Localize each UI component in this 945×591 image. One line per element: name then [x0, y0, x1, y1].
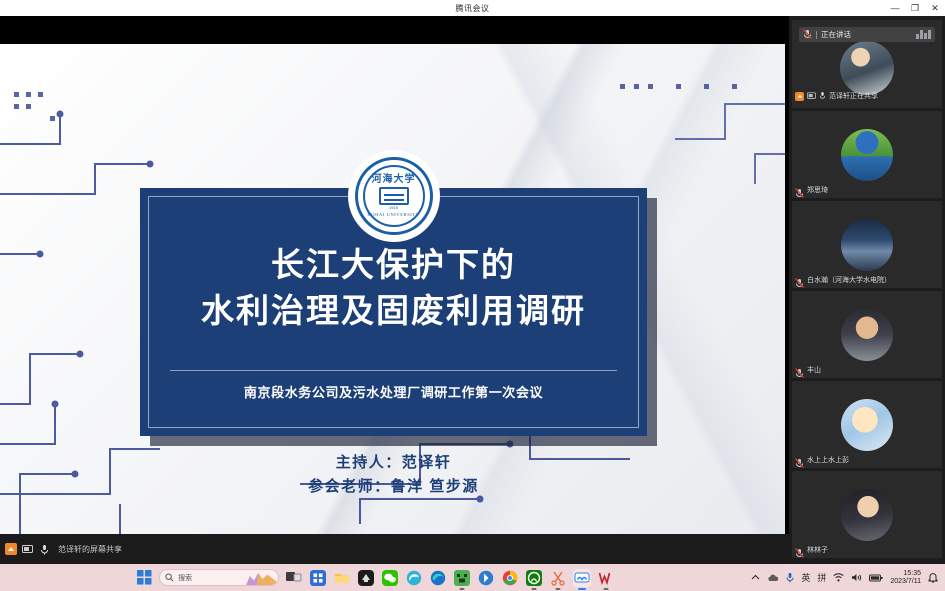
logo-emblem-icon — [379, 187, 409, 205]
quark-browser-icon[interactable] — [477, 569, 495, 587]
show-hidden-icons-chevron[interactable] — [751, 574, 760, 581]
ime-pinyin-icon[interactable]: 拼 — [817, 571, 826, 584]
speaking-indicator: 正在讲话 — [799, 27, 935, 42]
share-status-bar: 范译轩的屏幕共享 — [0, 534, 789, 564]
clock-date: 2023/7/11 — [890, 578, 921, 586]
battery-icon[interactable] — [869, 574, 883, 582]
share-top-letterbox — [0, 16, 789, 44]
dark-app-icon[interactable] — [357, 569, 375, 587]
logo-chinese-name: 河海大学 — [372, 175, 416, 185]
search-input[interactable]: 搜索 — [159, 569, 279, 586]
circuit-decoration-left — [0, 104, 160, 534]
slide-title: 长江大保护下的 水利治理及固废利用调研 — [140, 242, 647, 333]
google-chrome-icon[interactable] — [501, 569, 519, 587]
tencent-meeting-window: 腾讯会议 — ❐ ✕ — [0, 0, 945, 591]
ime-language-icon[interactable]: 英 — [801, 571, 810, 584]
participant-label: 范译轩正在共享 — [795, 87, 878, 105]
participant-tile[interactable]: 丰山 — [792, 291, 942, 378]
mic-muted-icon — [795, 455, 804, 465]
avatar — [841, 399, 893, 451]
participant-name: 林林子 — [807, 545, 828, 555]
edge-legacy-icon[interactable] — [405, 569, 423, 587]
participant-name: 丰山 — [807, 365, 821, 375]
windows-start-icon[interactable] — [136, 569, 153, 586]
wifi-icon[interactable] — [833, 573, 844, 582]
microsoft-store-icon[interactable] — [309, 569, 327, 587]
avatar — [841, 129, 893, 181]
mic-muted-icon — [795, 365, 804, 375]
share-owner-label: 范译轩的屏幕共享 — [58, 544, 122, 555]
participant-label: 丰山 — [795, 365, 821, 375]
slide-subtitle: 南京段水务公司及污水处理厂调研工作第一次会议 — [140, 382, 647, 401]
shared-screen-stage: 河海大学 1915 HOHAI UNIVERSITY 长江大保护下的 水利治理及… — [0, 16, 789, 564]
microphone-icon[interactable] — [38, 543, 51, 556]
participant-tile[interactable]: 白水瀚（河海大学水电院） — [792, 201, 942, 288]
windows-taskbar: 搜索 — [0, 564, 945, 591]
logo-outer-ring: 河海大学 1915 HOHAI UNIVERSITY — [355, 157, 433, 235]
system-tray: 英 拼 15:35 2023/7/11 — [751, 570, 945, 585]
maximize-button[interactable]: ❐ — [905, 0, 925, 16]
slide-title-line2: 水利治理及固废利用调研 — [140, 288, 647, 334]
hohai-university-logo: 河海大学 1915 HOHAI UNIVERSITY — [348, 150, 440, 242]
participant-label: 水上上水上彭 — [795, 455, 849, 465]
participant-name: 郑思琦 — [807, 185, 828, 195]
slide-title-card: 河海大学 1915 HOHAI UNIVERSITY 长江大保护下的 水利治理及… — [140, 188, 647, 436]
slide-host-line: 主持人：范译轩 — [140, 451, 647, 472]
window-title: 腾讯会议 — [456, 3, 490, 14]
participant-name: 水上上水上彭 — [807, 455, 849, 465]
tencent-meeting-icon[interactable] — [573, 569, 591, 587]
wechat-icon[interactable] — [381, 569, 399, 587]
avatar — [841, 489, 893, 541]
window-title-bar: 腾讯会议 — ❐ ✕ — [0, 0, 945, 16]
search-decoration-art — [246, 570, 276, 585]
minecraft-icon[interactable] — [453, 569, 471, 587]
minimize-button[interactable]: — — [885, 0, 905, 16]
share-screen-icon — [5, 543, 17, 555]
participant-tile[interactable]: 水上上水上彭 — [792, 381, 942, 468]
badge-divider — [816, 31, 817, 39]
clock[interactable]: 15:35 2023/7/11 — [890, 570, 921, 585]
avatar — [841, 309, 893, 361]
participant-name: 范译轩正在共享 — [829, 91, 878, 101]
onedrive-cloud-icon[interactable] — [767, 574, 779, 582]
xbox-icon[interactable] — [525, 569, 543, 587]
participant-label: 郑思琦 — [795, 185, 828, 195]
share-screen-icon — [795, 92, 804, 101]
window-controls: — ❐ ✕ — [885, 0, 945, 16]
microphone-icon — [819, 87, 826, 105]
task-view-icon[interactable] — [285, 569, 303, 587]
avatar — [841, 219, 893, 271]
mic-muted-icon — [795, 275, 804, 285]
logo-year: 1915 — [389, 205, 398, 210]
search-icon — [165, 569, 174, 586]
wps-office-icon[interactable] — [597, 569, 615, 587]
notification-bell-icon[interactable] — [928, 572, 938, 583]
close-button[interactable]: ✕ — [925, 0, 945, 16]
mic-muted-icon — [795, 185, 804, 195]
volume-icon[interactable] — [851, 573, 862, 582]
participants-panel[interactable]: 正在讲话 范译轩正在共享 — [789, 16, 945, 564]
mic-muted-icon — [803, 26, 812, 44]
shared-slide: 河海大学 1915 HOHAI UNIVERSITY 长江大保护下的 水利治理及… — [0, 44, 785, 534]
file-explorer-icon[interactable] — [333, 569, 351, 587]
title-divider — [170, 370, 617, 371]
clock-time: 15:35 — [890, 570, 921, 578]
mic-muted-icon — [795, 545, 804, 555]
microphone-icon[interactable] — [786, 572, 794, 583]
participant-tile[interactable]: 郑思琦 — [792, 111, 942, 198]
participant-name: 白水瀚（河海大学水电院） — [807, 275, 891, 285]
slide-teachers-line: 参会老师：鲁洋 笪步源 — [140, 475, 647, 496]
taskbar-center-group: 搜索 — [0, 569, 751, 587]
screen-icon — [807, 87, 816, 105]
screen-icon[interactable] — [21, 543, 34, 556]
microsoft-edge-icon[interactable] — [429, 569, 447, 587]
participant-label: 白水瀚（河海大学水电院） — [795, 275, 891, 285]
search-placeholder: 搜索 — [178, 573, 192, 583]
speaking-label: 正在讲话 — [821, 29, 851, 40]
audio-wave-icon — [916, 30, 931, 39]
participant-tile[interactable]: 林林子 — [792, 471, 942, 558]
circuit-decoration-top-right — [585, 84, 785, 204]
participant-label: 林林子 — [795, 545, 828, 555]
logo-english-name: HOHAI UNIVERSITY — [367, 212, 419, 217]
snipping-tool-icon[interactable] — [549, 569, 567, 587]
participant-tile[interactable]: 正在讲话 范译轩正在共享 — [792, 20, 942, 108]
logo-inner-ring: 河海大学 1915 HOHAI UNIVERSITY — [363, 165, 425, 227]
slide-title-line1: 长江大保护下的 — [140, 242, 647, 288]
